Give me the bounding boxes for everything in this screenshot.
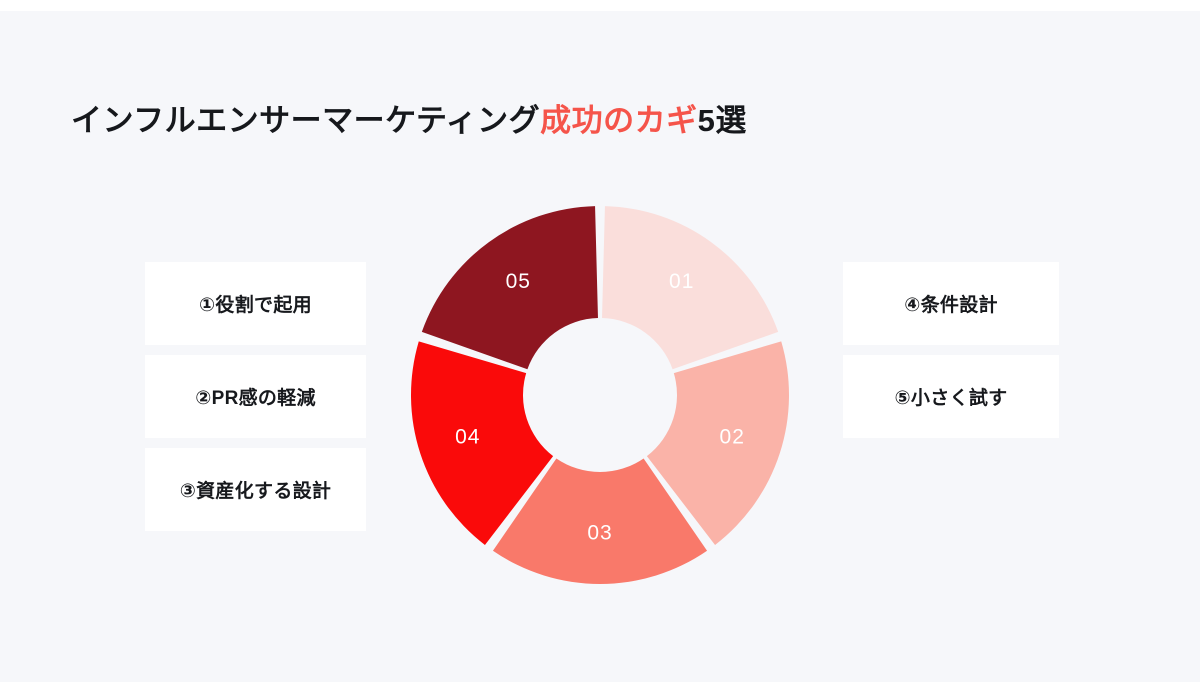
slide-canvas: インフルエンサーマーケティング成功のカギ5選 ①役割で起用 ②PR感の軽減 ③資… [0,11,1200,682]
card-left-3[interactable]: ③資産化する設計 [145,448,366,531]
donut-slice-label-02: 02 [720,426,745,449]
card-left-2-label: ②PR感の軽減 [195,383,316,410]
donut-slice-label-05: 05 [506,270,531,293]
page-title-part2: 5選 [698,103,747,138]
card-right-2-label: ⑤小さく試す [895,383,1008,410]
page-title-accent: 成功のカギ [540,103,698,138]
card-right-1[interactable]: ④条件設計 [843,262,1059,345]
donut-slice-label-04: 04 [455,426,480,449]
card-left-3-label: ③資産化する設計 [180,476,332,503]
donut-chart-svg: 0102030405 [396,191,804,599]
card-right-1-label: ④条件設計 [904,290,998,317]
card-left-1-label: ①役割で起用 [199,290,312,317]
donut-slice-label-03: 03 [587,522,612,545]
page-title: インフルエンサーマーケティング成功のカギ5選 [71,101,747,141]
card-right-2[interactable]: ⑤小さく試す [843,355,1059,438]
page-title-part1: インフルエンサーマーケティング [71,103,540,138]
card-left-2[interactable]: ②PR感の軽減 [145,355,366,438]
card-left-1[interactable]: ①役割で起用 [145,262,366,345]
donut-chart: 0102030405 [396,191,804,599]
donut-slice-label-01: 01 [669,270,694,293]
